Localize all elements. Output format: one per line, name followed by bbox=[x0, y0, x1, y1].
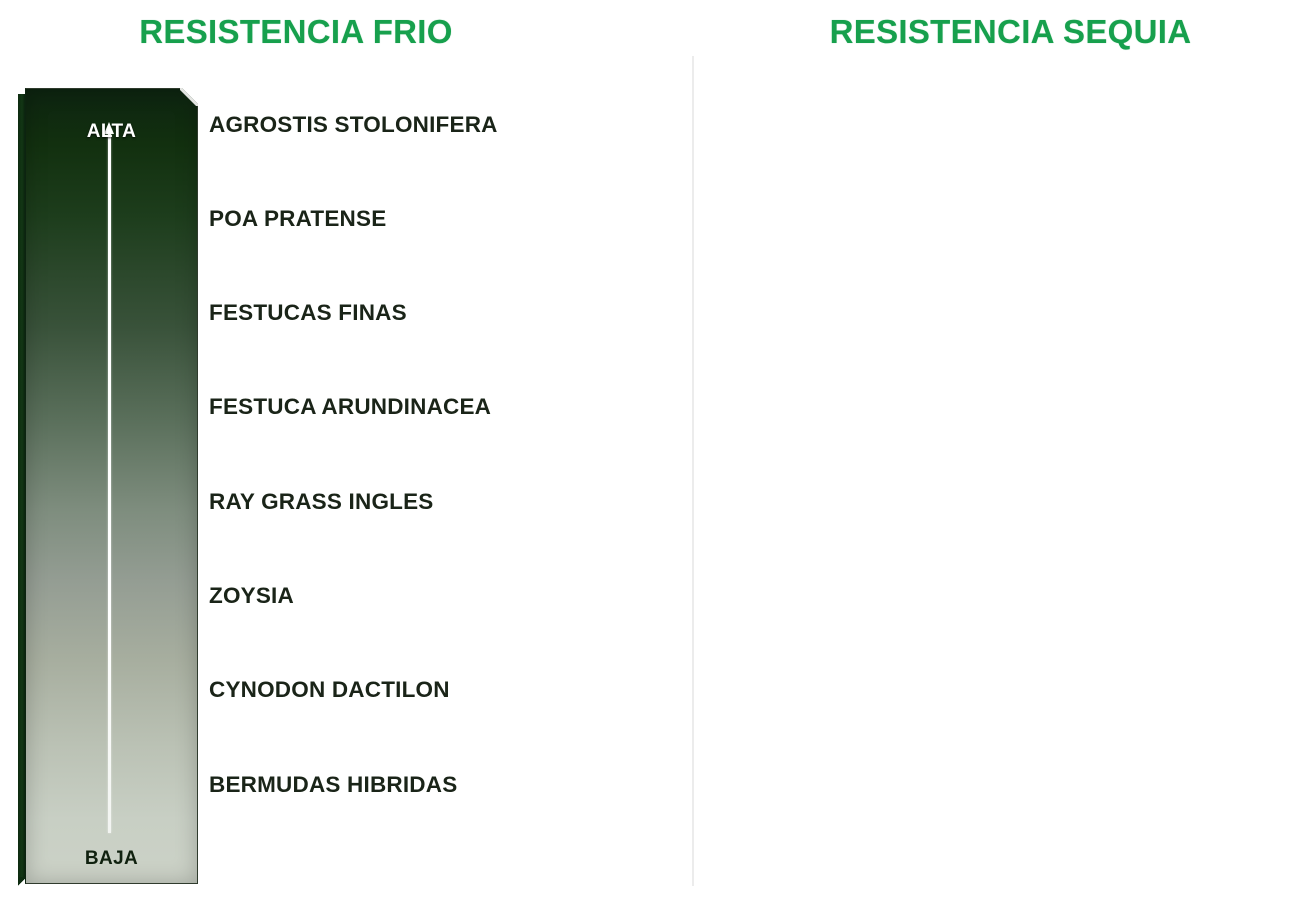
infographic-root: RESISTENCIA FRIO ALTA BAJA AGROSTIS STOL… bbox=[0, 0, 1307, 901]
gradient-scale-frio: ALTA BAJA bbox=[18, 88, 198, 878]
up-arrow-icon bbox=[108, 133, 111, 833]
page-title-sequia: RESISTENCIA SEQUIA bbox=[704, 13, 1307, 51]
panel-resistencia-sequia: RESISTENCIA SEQUIA ALTA BAJA CYNODON DAC… bbox=[694, 0, 1307, 901]
list-item: RAY GRASS INGLES bbox=[209, 489, 434, 515]
bevel-corner-icon bbox=[180, 88, 198, 106]
list-item: CYNODON DACTILON bbox=[209, 677, 450, 703]
list-item: AGROSTIS STOLONIFERA bbox=[209, 112, 498, 138]
panel-resistencia-frio: RESISTENCIA FRIO ALTA BAJA AGROSTIS STOL… bbox=[0, 0, 692, 901]
list-item: BERMUDAS HIBRIDAS bbox=[209, 772, 457, 798]
scale-label-baja: BAJA bbox=[26, 848, 197, 870]
list-item: FESTUCAS FINAS bbox=[209, 300, 407, 326]
list-item: FESTUCA ARUNDINACEA bbox=[209, 394, 491, 420]
list-item: ZOYSIA bbox=[209, 583, 294, 609]
scale-front-face: ALTA BAJA bbox=[25, 88, 198, 884]
scale-label-alta: ALTA bbox=[26, 121, 197, 143]
list-item: POA PRATENSE bbox=[209, 206, 386, 232]
page-title-frio: RESISTENCIA FRIO bbox=[0, 13, 642, 51]
